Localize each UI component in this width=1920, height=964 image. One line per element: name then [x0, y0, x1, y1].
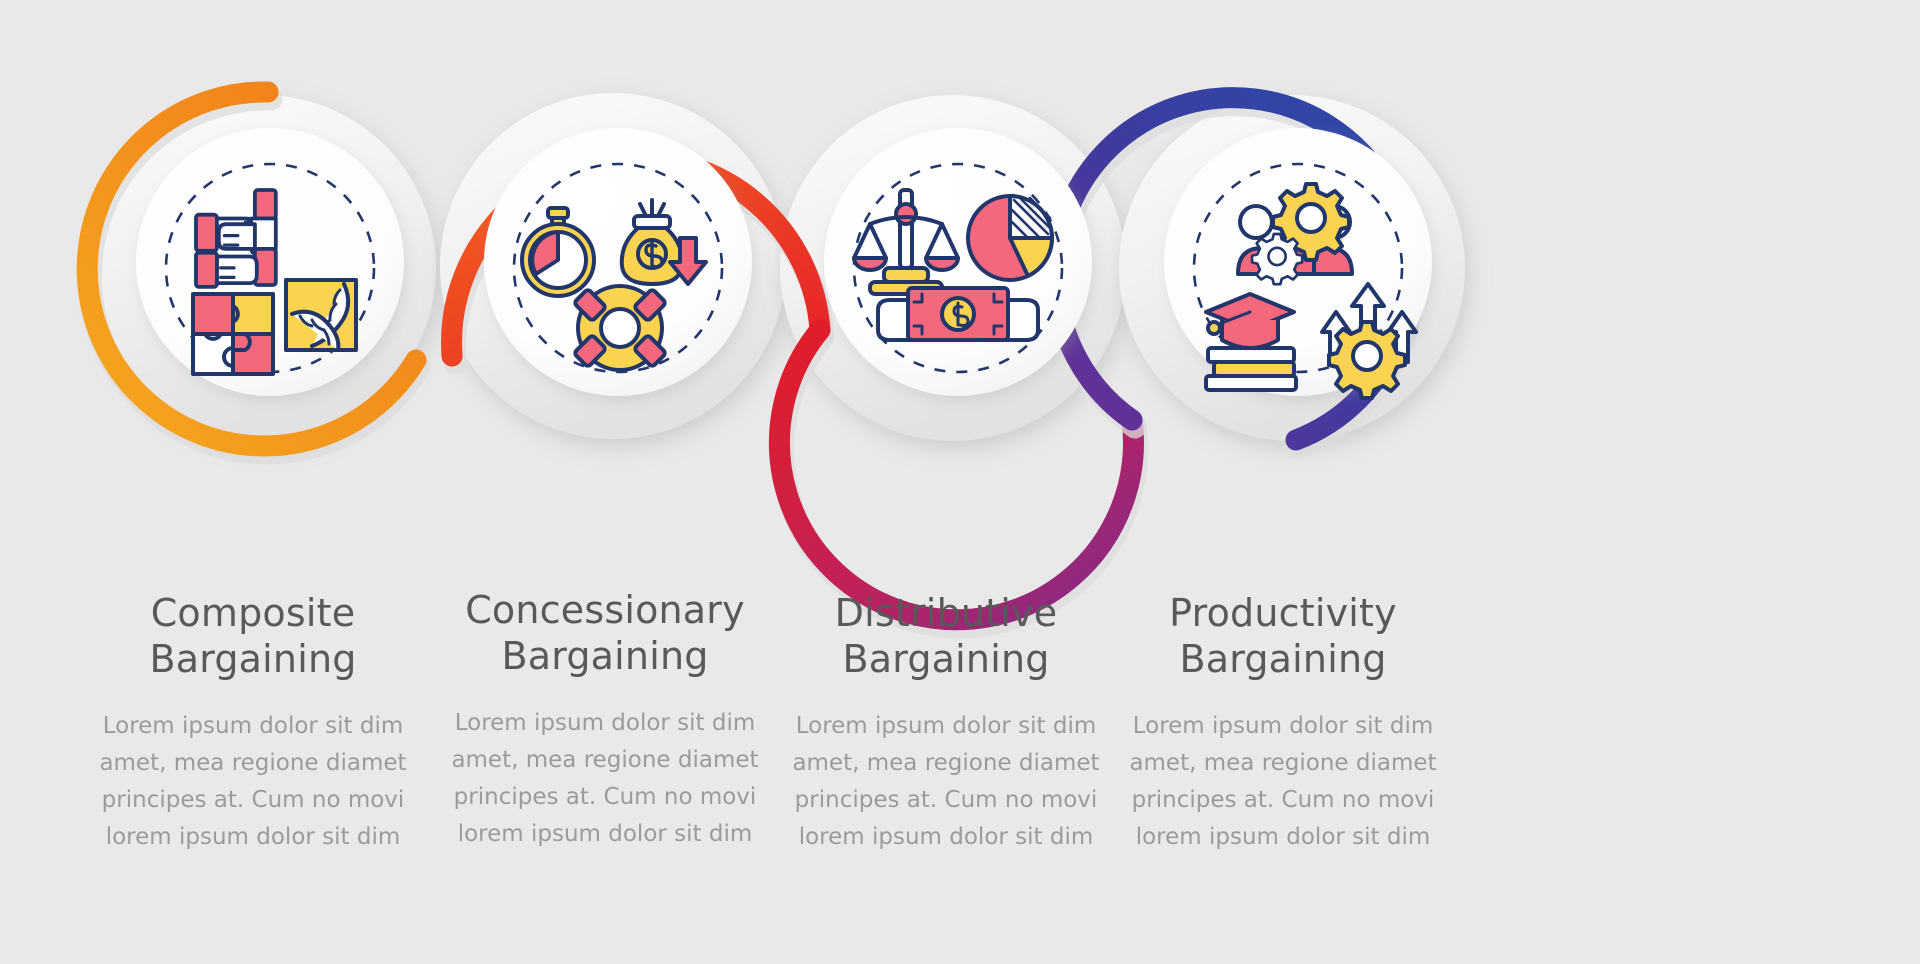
labels-layer: CompositeBargaining Lorem ipsum dolor si… [0, 0, 1920, 964]
step-2-text-block: ConcessionaryBargaining Lorem ipsum dolo… [440, 587, 770, 853]
step-3-title-line1: Distributive [835, 591, 1058, 635]
step-3-title: DistributiveBargaining [781, 590, 1111, 682]
step-3-text-block: DistributiveBargaining Lorem ipsum dolor… [781, 590, 1111, 856]
step-4-title-line2: Bargaining [1179, 637, 1386, 681]
step-2-title-line2: Bargaining [501, 634, 708, 678]
step-1-description: Lorem ipsum dolor sit dim amet, mea regi… [88, 708, 418, 856]
step-1-title-line2: Bargaining [149, 637, 356, 681]
step-3-title-line2: Bargaining [842, 637, 1049, 681]
step-1-title-line1: Composite [151, 591, 356, 635]
step-4-text-block: ProductivityBargaining Lorem ipsum dolor… [1118, 590, 1448, 856]
step-2-title: ConcessionaryBargaining [440, 587, 770, 679]
step-1-title: CompositeBargaining [88, 590, 418, 682]
step-3-description: Lorem ipsum dolor sit dim amet, mea regi… [781, 708, 1111, 856]
step-4-title-line1: Productivity [1169, 591, 1397, 635]
step-1-text-block: CompositeBargaining Lorem ipsum dolor si… [88, 590, 418, 856]
step-2-description: Lorem ipsum dolor sit dim amet, mea regi… [440, 705, 770, 853]
infographic-canvas: CompositeBargaining Lorem ipsum dolor si… [0, 0, 1920, 964]
step-4-description: Lorem ipsum dolor sit dim amet, mea regi… [1118, 708, 1448, 856]
step-2-title-line1: Concessionary [465, 588, 745, 632]
step-4-title: ProductivityBargaining [1118, 590, 1448, 682]
